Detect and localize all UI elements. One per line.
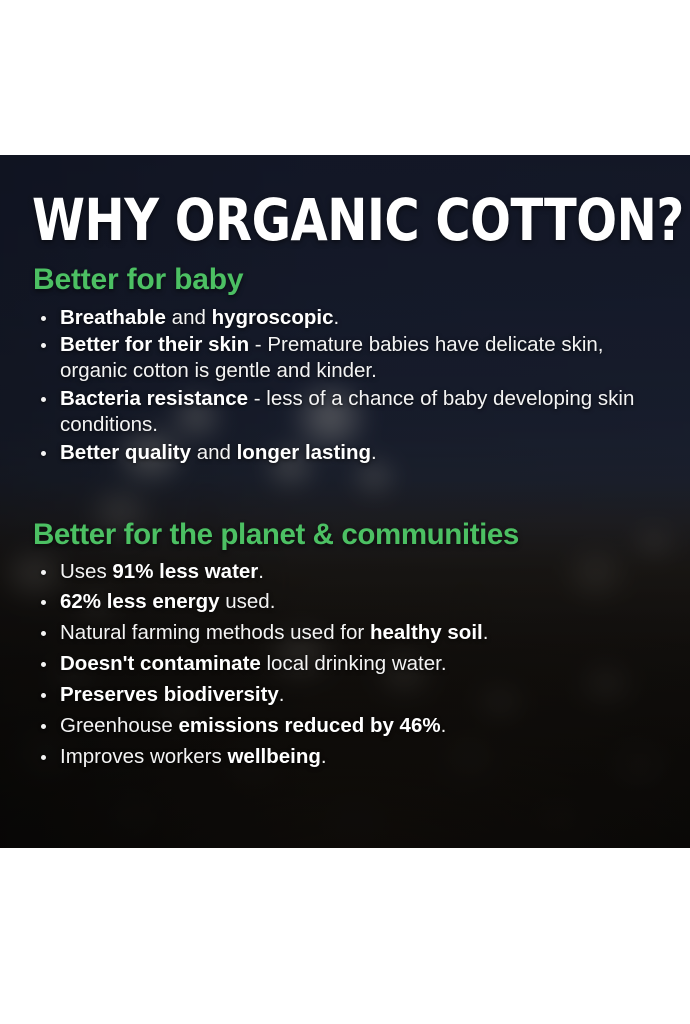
list-item: Breathable and hygroscopic.	[30, 305, 664, 331]
page-root: WHY ORGANIC COTTON? Better for baby Brea…	[0, 0, 690, 1024]
list-item-text: Uses	[60, 560, 112, 583]
list-item-emphasis: healthy soil	[370, 621, 483, 644]
list-item-text: .	[321, 745, 327, 768]
list-item-emphasis: Better for their skin	[60, 333, 249, 356]
list-item-text: Improves workers	[60, 745, 227, 768]
list-item-emphasis: hygroscopic	[212, 306, 334, 329]
list-item-emphasis: Doesn't contaminate	[60, 652, 261, 675]
list-item-text: .	[441, 714, 447, 737]
list-item-text: and	[166, 306, 212, 329]
list-item: Better quality and longer lasting.	[30, 440, 664, 466]
list-item-text: .	[258, 560, 264, 583]
organic-cotton-infographic: WHY ORGANIC COTTON? Better for baby Brea…	[0, 155, 690, 848]
list-item: Uses 91% less water.	[30, 559, 664, 585]
list-item-text: local drinking water.	[261, 652, 447, 675]
list-item: Preserves biodiversity.	[30, 682, 664, 708]
list-item-emphasis: longer lasting	[237, 441, 371, 464]
list-item-text: and	[191, 441, 237, 464]
list-item-text: Greenhouse	[60, 714, 179, 737]
list-item: Bacteria resistance - less of a chance o…	[30, 386, 664, 438]
list-item-emphasis: Bacteria resistance	[60, 387, 248, 410]
section-heading-better-for-planet: Better for the planet & communities	[33, 518, 664, 551]
list-item-text: used.	[220, 590, 276, 613]
list-item-text: .	[333, 306, 339, 329]
list-item: 62% less energy used.	[30, 589, 664, 615]
list-item-emphasis: wellbeing	[227, 745, 320, 768]
section-better-for-baby: Better for baby Breathable and hygroscop…	[30, 263, 664, 466]
list-item: Improves workers wellbeing.	[30, 744, 664, 770]
infographic-content: WHY ORGANIC COTTON? Better for baby Brea…	[0, 155, 690, 848]
list-item-text: Natural farming methods used for	[60, 621, 370, 644]
section-heading-better-for-baby: Better for baby	[33, 263, 664, 297]
list-item-emphasis: Breathable	[60, 306, 166, 329]
section-spacer	[30, 468, 664, 518]
list-item-text: .	[371, 441, 377, 464]
list-item: Better for their skin - Premature babies…	[30, 332, 664, 384]
page-title: WHY ORGANIC COTTON?	[32, 191, 613, 249]
list-item-emphasis: 91% less water	[112, 560, 258, 583]
list-item: Doesn't contaminate local drinking water…	[30, 651, 664, 677]
list-item-emphasis: emissions reduced by 46%	[179, 714, 441, 737]
list-item-text: .	[279, 683, 285, 706]
list-item-emphasis: 62% less energy	[60, 590, 220, 613]
section-better-for-planet: Better for the planet & communities Uses…	[30, 518, 664, 770]
list-item: Natural farming methods used for healthy…	[30, 620, 664, 646]
list-item-emphasis: Preserves biodiversity	[60, 683, 279, 706]
bullet-list-better-for-planet: Uses 91% less water.62% less energy used…	[30, 559, 664, 770]
bullet-list-better-for-baby: Breathable and hygroscopic.Better for th…	[30, 305, 664, 466]
list-item: Greenhouse emissions reduced by 46%.	[30, 713, 664, 739]
list-item-emphasis: Better quality	[60, 441, 191, 464]
list-item-text: .	[483, 621, 489, 644]
